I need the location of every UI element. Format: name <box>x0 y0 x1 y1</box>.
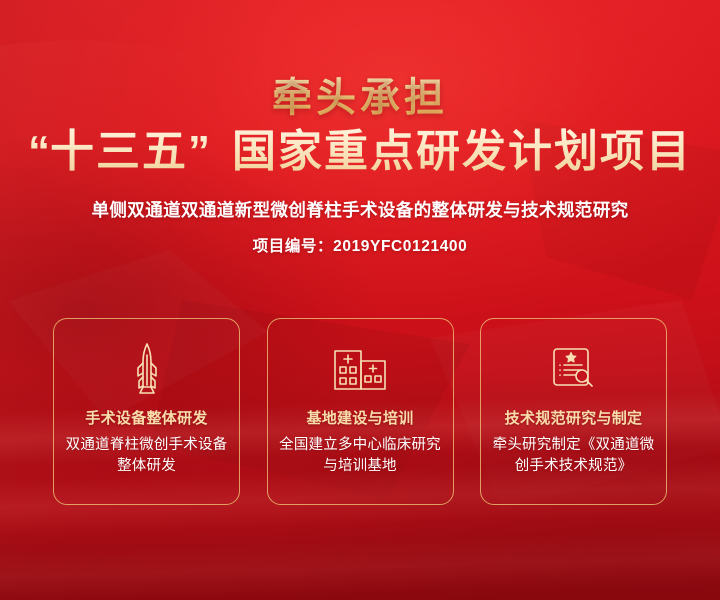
program-title: “十三五”国家重点研发计划项目 <box>0 127 720 178</box>
feature-card-title: 手术设备整体研发 <box>85 407 207 428</box>
feature-card[interactable]: 手术设备整体研发 双通道脊柱微创手术设备整体研发 <box>53 318 240 505</box>
project-number: 项目编号：2019YFC0121400 <box>0 234 720 256</box>
project-subtitle: 单侧双通道双通道新型微创脊柱手术设备的整体研发与技术规范研究 <box>0 197 720 222</box>
program-name-label: 国家重点研发计划项目 <box>232 127 692 176</box>
feature-card-title: 技术规范研究与制定 <box>505 407 643 428</box>
rocket-icon <box>127 341 167 397</box>
feature-card-description: 全国建立多中心临床研究与培训基地 <box>276 435 444 476</box>
feature-card[interactable]: 基地建设与培训 全国建立多中心临床研究与培训基地 <box>267 318 454 505</box>
page-title: 牵头承担 <box>0 76 720 121</box>
banner-header: 牵头承担 “十三五”国家重点研发计划项目 单侧双通道双通道新型微创脊柱手术设备的… <box>0 76 720 256</box>
feature-card-description: 双通道脊柱微创手术设备整体研发 <box>63 435 231 476</box>
quote-open: “ <box>28 127 50 176</box>
five-year-plan-label: 十三五 <box>50 127 188 176</box>
hospital-building-icon <box>332 341 388 397</box>
feature-card-list: 手术设备整体研发 双通道脊柱微创手术设备整体研发 基地建设与培训 <box>53 318 667 505</box>
promo-banner: 牵头承担 “十三五”国家重点研发计划项目 单侧双通道双通道新型微创脊柱手术设备的… <box>0 0 720 600</box>
feature-card-description: 牵头研究制定《双通道微创手术技术规范》 <box>490 435 658 476</box>
feature-card[interactable]: 技术规范研究与制定 牵头研究制定《双通道微创手术技术规范》 <box>480 318 667 505</box>
document-magnifier-icon <box>549 341 599 397</box>
feature-card-title: 基地建设与培训 <box>306 407 413 428</box>
quote-close: ” <box>188 127 210 176</box>
